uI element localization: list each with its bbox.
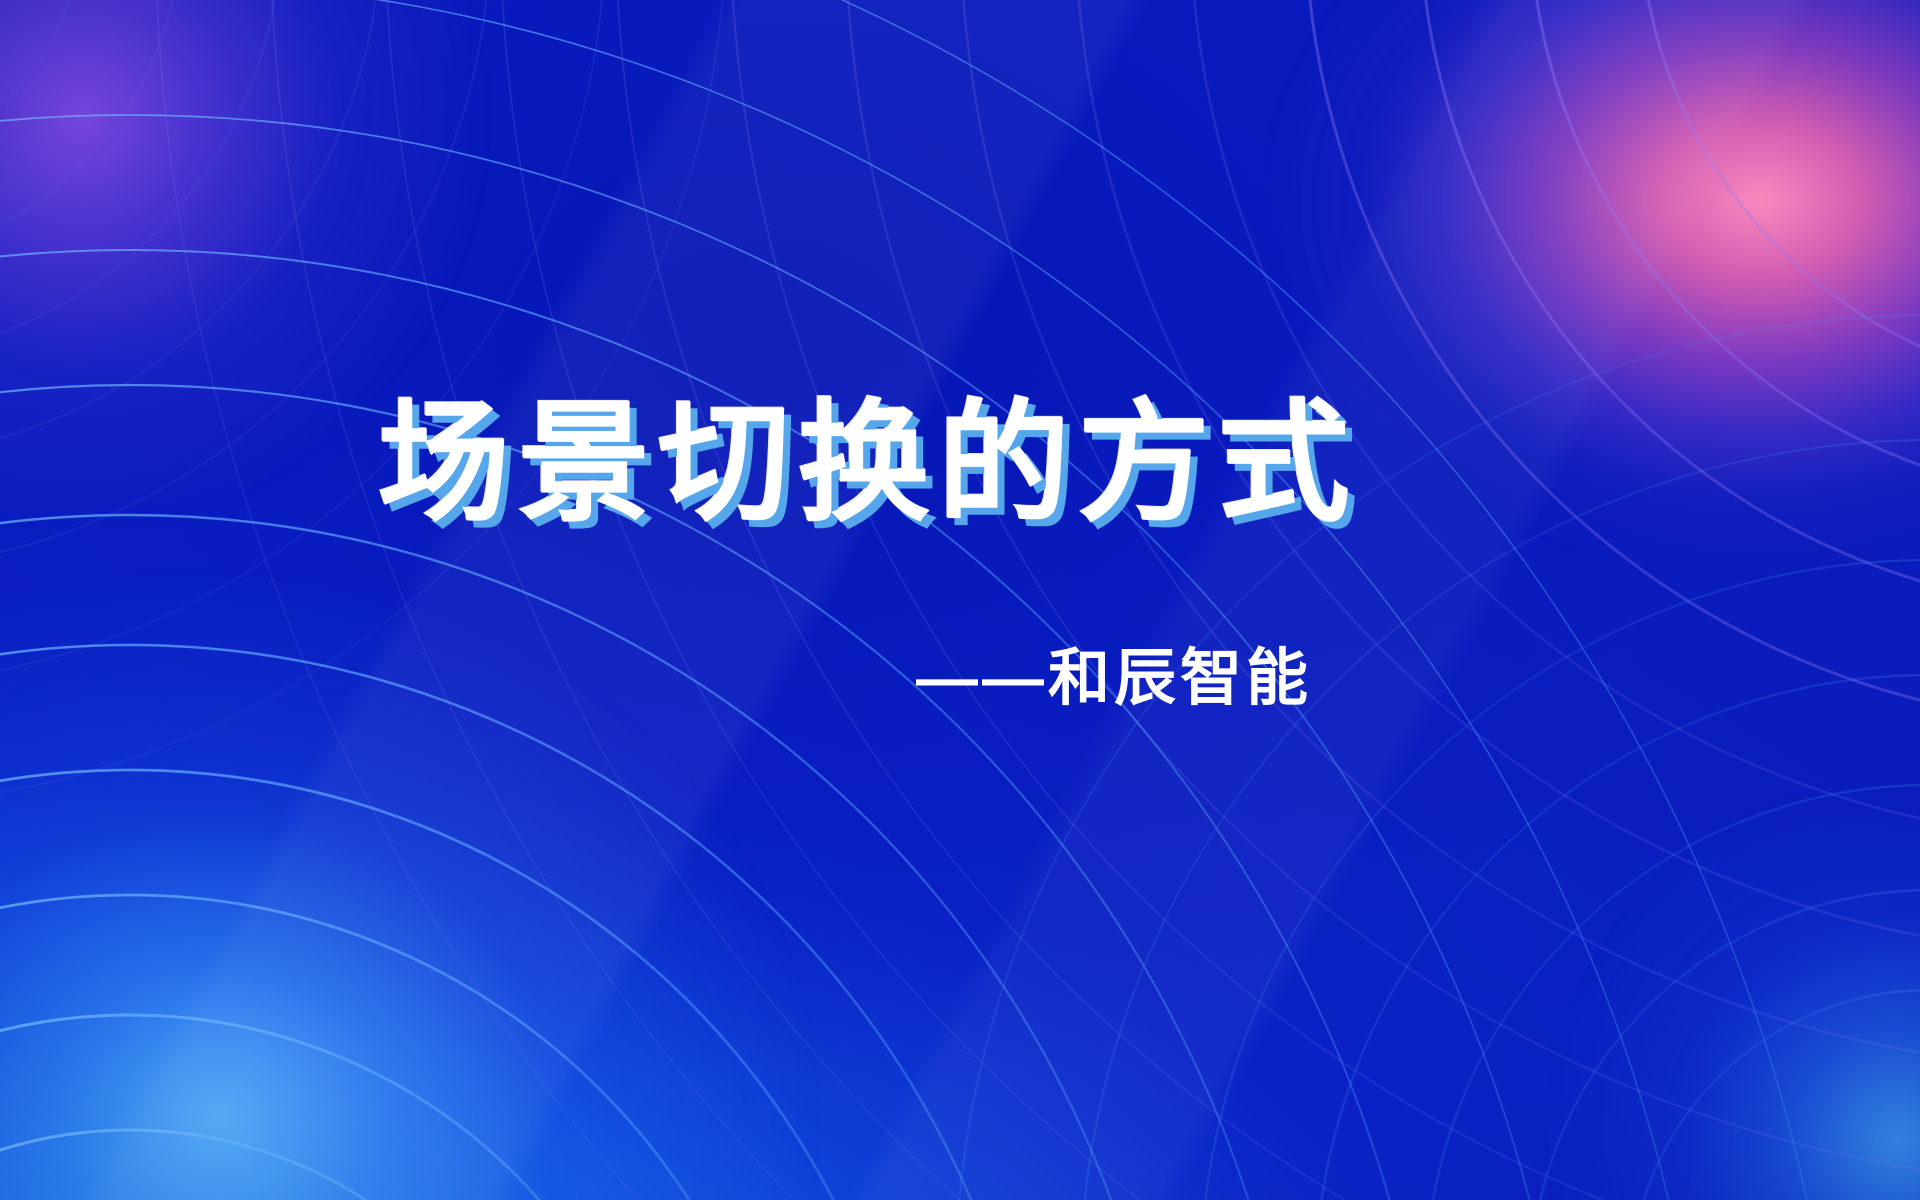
slide-title: 场景切换的方式: [378, 398, 1358, 530]
slide-subtitle: ——和辰智能: [916, 648, 1312, 710]
slide-text-block: 场景切换的方式 ——和辰智能: [0, 0, 1920, 1200]
presentation-slide: 场景切换的方式 ——和辰智能: [0, 0, 1920, 1200]
